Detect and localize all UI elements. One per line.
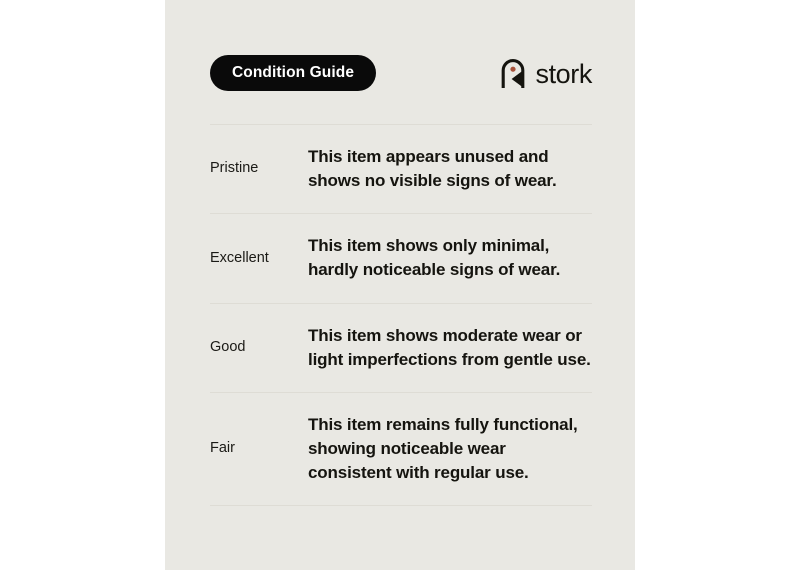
- condition-label: Fair: [210, 439, 308, 459]
- condition-description: This item appears unused and shows no vi…: [308, 145, 592, 193]
- condition-description: This item shows moderate wear or light i…: [308, 324, 592, 372]
- stork-arch-logo-icon: [500, 58, 526, 88]
- condition-guide-card: Condition Guide stork Pristine This item…: [165, 0, 635, 570]
- row-divider: [210, 505, 592, 506]
- table-row: Fair This item remains fully functional,…: [210, 393, 592, 505]
- table-row: Pristine This item appears unused and sh…: [210, 125, 592, 213]
- condition-label: Good: [210, 338, 308, 358]
- table-row: Excellent This item shows only minimal, …: [210, 214, 592, 302]
- condition-label: Excellent: [210, 249, 308, 269]
- condition-description: This item remains fully functional, show…: [308, 413, 592, 485]
- condition-guide-badge: Condition Guide: [210, 55, 376, 91]
- screenshot-canvas: Condition Guide stork Pristine This item…: [0, 0, 800, 570]
- condition-guide-table: Pristine This item appears unused and sh…: [210, 124, 592, 506]
- table-row: Good This item shows moderate wear or li…: [210, 304, 592, 392]
- condition-description: This item shows only minimal, hardly not…: [308, 234, 592, 282]
- brand-lockup: stork: [500, 56, 592, 90]
- card-header: Condition Guide stork: [210, 55, 592, 93]
- brand-name: stork: [535, 61, 592, 88]
- condition-label: Pristine: [210, 159, 308, 179]
